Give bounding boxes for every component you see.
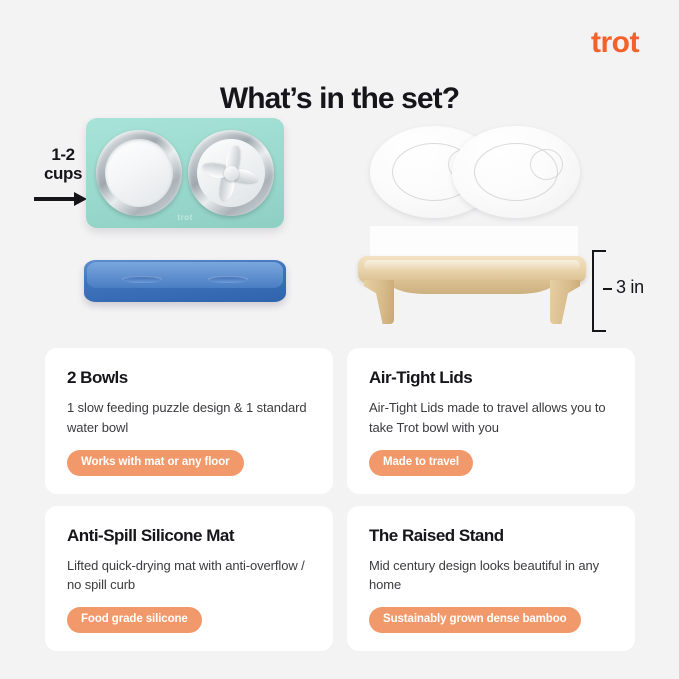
status-badge: Works with mat or any floor <box>67 450 244 476</box>
feature-card-bowls[interactable]: 2 Bowls 1 slow feeding puzzle design & 1… <box>45 348 333 494</box>
status-badge: Food grade silicone <box>67 607 202 633</box>
feature-cards-grid: 2 Bowls 1 slow feeding puzzle design & 1… <box>45 348 635 651</box>
feature-card-stand[interactable]: The Raised Stand Mid century design look… <box>347 506 635 652</box>
puzzle-swirl-icon <box>197 139 265 207</box>
feature-card-mat[interactable]: Anti-Spill Silicone Mat Lifted quick-dry… <box>45 506 333 652</box>
status-badge: Sustainably grown dense bamboo <box>369 607 581 633</box>
height-measurement: 3 in <box>592 250 652 328</box>
slow-feeder-bowl <box>188 130 274 216</box>
hero-product-area: 1-2 cups trot <box>0 108 679 340</box>
tray-emboss-label: trot <box>177 213 192 222</box>
feature-card-lids[interactable]: Air-Tight Lids Air-Tight Lids made to tr… <box>347 348 635 494</box>
raised-stand-image <box>358 256 586 328</box>
card-title: Air-Tight Lids <box>369 368 613 388</box>
silicone-mat-image <box>84 260 286 302</box>
card-description: 1 slow feeding puzzle design & 1 standar… <box>67 398 311 436</box>
card-description: Mid century design looks beautiful in an… <box>369 556 613 594</box>
bowl-set-image: trot <box>86 118 284 228</box>
card-title: The Raised Stand <box>369 526 613 546</box>
card-description: Lifted quick-drying mat with anti-overfl… <box>67 556 311 594</box>
measure-bracket-icon <box>592 250 606 332</box>
status-badge: Made to travel <box>369 450 473 476</box>
measure-label: 3 in <box>616 277 644 298</box>
capacity-unit: cups <box>44 164 82 183</box>
card-title: 2 Bowls <box>67 368 311 388</box>
air-tight-lids-image <box>370 126 585 221</box>
brand-logo: trot <box>591 28 639 58</box>
card-title: Anti-Spill Silicone Mat <box>67 526 311 546</box>
capacity-value: 1-2 <box>51 145 74 164</box>
lid-front <box>452 126 580 218</box>
card-description: Air-Tight Lids made to travel allows you… <box>369 398 613 436</box>
water-bowl <box>96 130 182 216</box>
